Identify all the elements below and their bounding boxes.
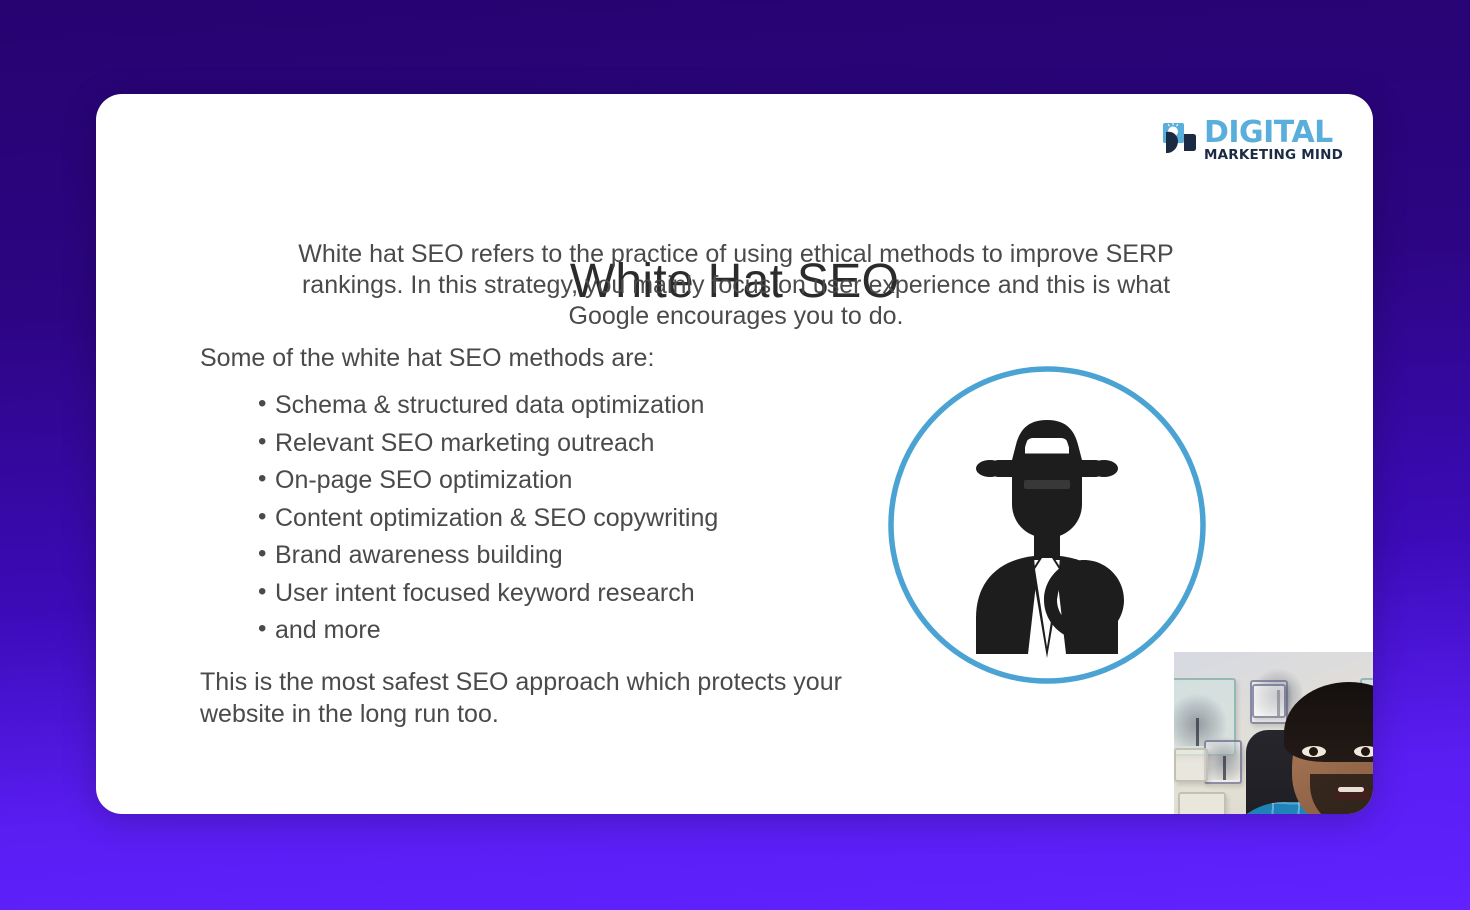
logo-line-digital: DIGITAL	[1204, 118, 1343, 148]
list-item: User intent focused keyword research	[258, 575, 960, 613]
list-item: On-page SEO optimization	[258, 462, 960, 500]
presenter-eye-right	[1354, 746, 1373, 757]
brand-logo: DIGITAL MARKETING MIND	[1162, 118, 1343, 163]
wall-panel	[1174, 748, 1208, 782]
logo-wordmark: DIGITAL MARKETING MIND	[1204, 118, 1343, 163]
list-item: and more	[258, 612, 960, 650]
closing-paragraph: This is the most safest SEO approach whi…	[200, 666, 860, 730]
presenter-eye-left	[1302, 746, 1326, 757]
methods-lead-text: Some of the white hat SEO methods are:	[200, 344, 960, 373]
presenter-webcam-overlay[interactable]	[1174, 652, 1373, 814]
slide-backdrop: DIGITAL MARKETING MIND White Hat SEO Whi…	[0, 0, 1470, 910]
presenter-figure	[1214, 670, 1373, 814]
methods-list: Schema & structured data optimization Re…	[200, 387, 960, 650]
body-column: Some of the white hat SEO methods are: S…	[200, 344, 960, 730]
slide-card: DIGITAL MARKETING MIND White Hat SEO Whi…	[96, 94, 1373, 814]
white-hat-person-illustration	[886, 364, 1208, 686]
logo-line-marketing-mind: MARKETING MIND	[1204, 149, 1343, 163]
list-item: Schema & structured data optimization	[258, 387, 960, 425]
intro-paragraph: White hat SEO refers to the practice of …	[286, 239, 1186, 332]
head-lightbulb-icon	[1162, 121, 1200, 159]
presenter-mouth	[1334, 786, 1370, 800]
list-item: Relevant SEO marketing outreach	[258, 425, 960, 463]
list-item: Brand awareness building	[258, 537, 960, 575]
list-item: Content optimization & SEO copywriting	[258, 500, 960, 538]
